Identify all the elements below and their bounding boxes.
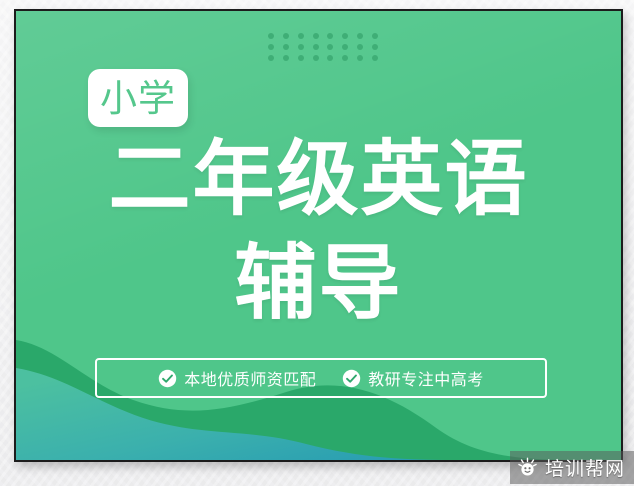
headline-line-1: 二年级英语: [16, 139, 621, 221]
poster-card: 小学 二年级英语 辅导 本地优质师资匹配 教研专注中高考: [14, 9, 623, 462]
dot-matrix-icon: [264, 31, 382, 63]
sun-face-icon: [517, 457, 538, 478]
feature-label-2: 教研专注中高考: [368, 366, 484, 390]
check-circle-icon: [342, 369, 361, 388]
poster-canvas: 小学 二年级英语 辅导 本地优质师资匹配 教研专注中高考: [0, 0, 634, 486]
watermark-text: 培训帮网: [545, 454, 625, 481]
feature-item-1: 本地优质师资匹配: [158, 366, 316, 390]
feature-label-1: 本地优质师资匹配: [184, 366, 316, 390]
feature-bar: 本地优质师资匹配 教研专注中高考: [95, 358, 547, 398]
level-badge-label: 小学: [100, 80, 176, 117]
watermark: 培训帮网: [510, 451, 634, 484]
feature-item-2: 教研专注中高考: [342, 366, 484, 390]
level-badge: 小学: [88, 69, 188, 127]
headline-line-2: 辅导: [16, 243, 621, 325]
check-circle-icon: [158, 369, 177, 388]
